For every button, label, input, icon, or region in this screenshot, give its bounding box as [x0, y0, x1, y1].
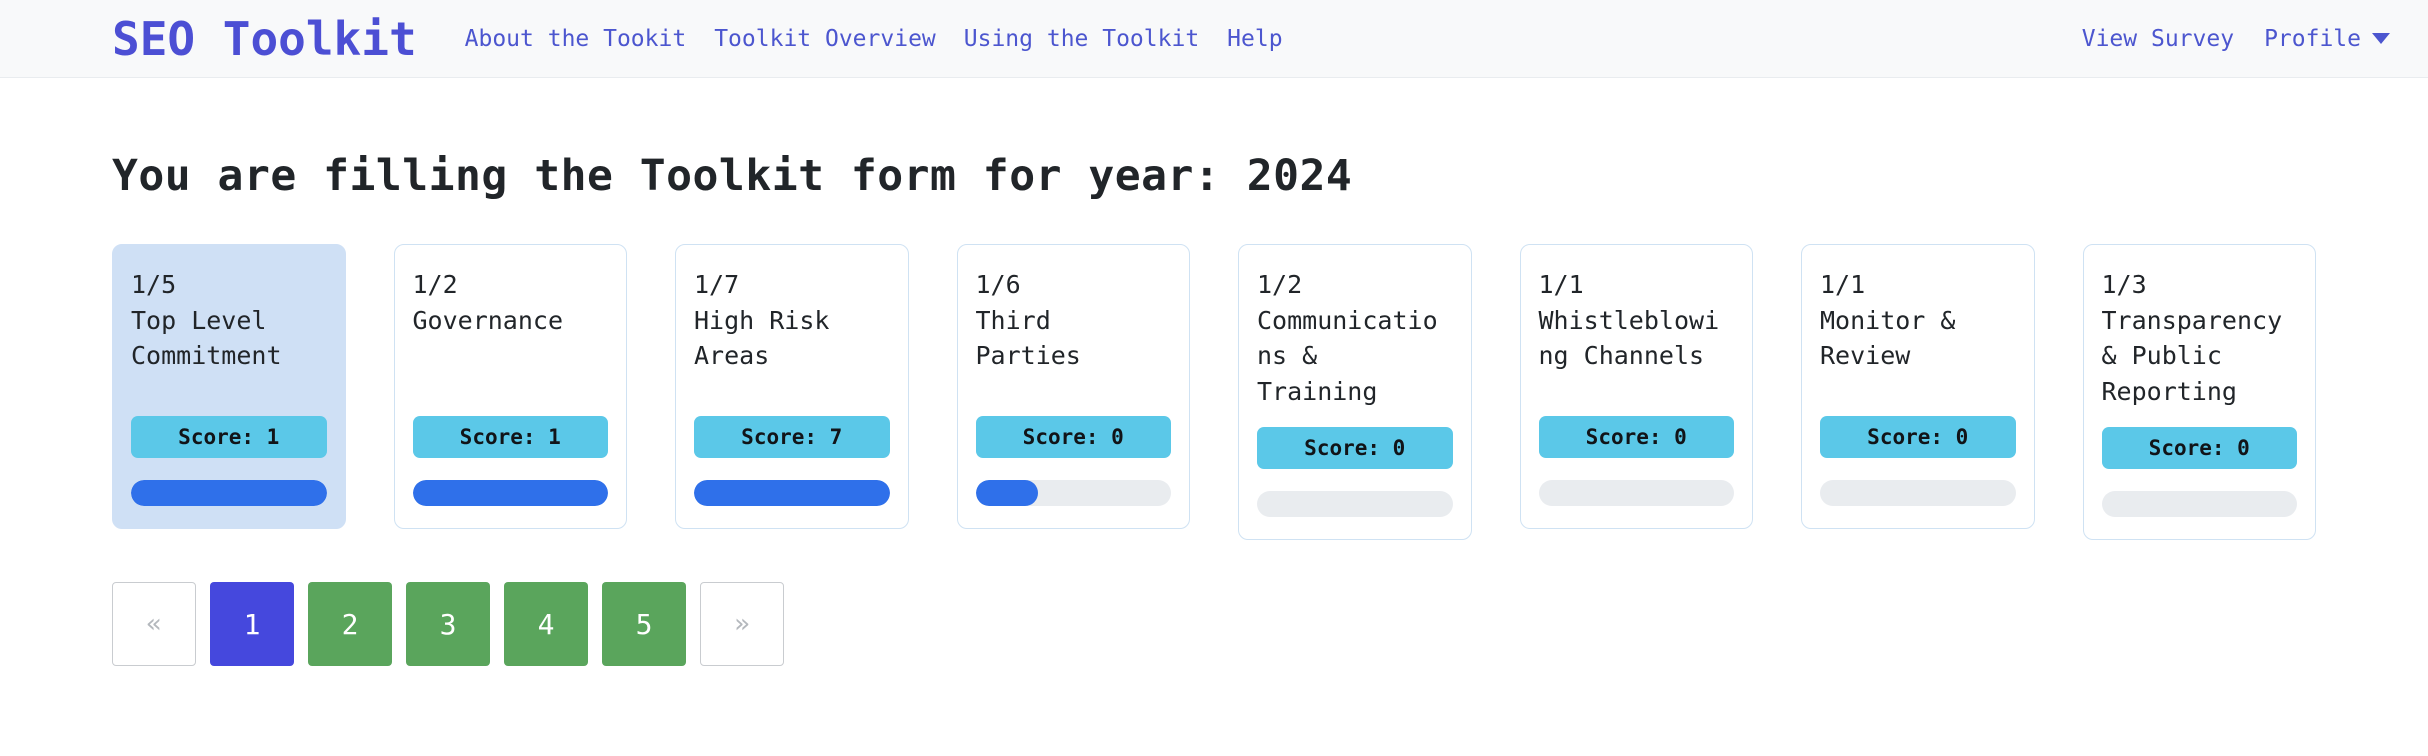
chevron-down-icon [2372, 33, 2390, 44]
card-spacer [131, 374, 327, 417]
score-badge[interactable]: Score: 1 [413, 416, 609, 458]
card-progress-count: 1/1 [1820, 267, 2016, 303]
card-title: Top Level Commitment [131, 303, 327, 374]
card-spacer [1539, 374, 1735, 417]
pagination-page-1[interactable]: 1 [210, 582, 294, 666]
progress-bar [976, 480, 1172, 506]
progress-bar-fill [694, 480, 890, 506]
card-spacer [1257, 409, 1453, 427]
progress-bar [131, 480, 327, 506]
nav-link-help[interactable]: Help [1227, 26, 1282, 52]
nav-link-using-the-toolkit[interactable]: Using the Toolkit [964, 26, 1199, 52]
card-title: Monitor & Review [1820, 303, 2016, 374]
progress-bar-fill [413, 480, 609, 506]
score-badge[interactable]: Score: 0 [1820, 416, 2016, 458]
pagination-page-5[interactable]: 5 [602, 582, 686, 666]
profile-label: Profile [2264, 26, 2361, 52]
profile-dropdown[interactable]: Profile [2264, 26, 2390, 52]
page-title: You are filling the Toolkit form for yea… [112, 151, 2316, 201]
score-badge[interactable]: Score: 7 [694, 416, 890, 458]
progress-bar [2102, 491, 2298, 517]
pagination-next-button[interactable]: » [700, 582, 784, 666]
progress-bar [1820, 480, 2016, 506]
card-title: Governance [413, 303, 609, 339]
pagination-prev-button[interactable]: « [112, 582, 196, 666]
section-card[interactable]: 1/6Third PartiesScore: 0 [957, 244, 1191, 529]
card-progress-count: 1/2 [413, 267, 609, 303]
progress-bar-fill [976, 480, 1039, 506]
card-title: Communications & Training [1257, 303, 1453, 410]
score-badge[interactable]: Score: 0 [1539, 416, 1735, 458]
progress-bar [1539, 480, 1735, 506]
card-progress-count: 1/6 [976, 267, 1172, 303]
card-title: Whistleblowing Channels [1539, 303, 1735, 374]
section-card[interactable]: 1/2GovernanceScore: 1 [394, 244, 628, 529]
pagination-page-2[interactable]: 2 [308, 582, 392, 666]
section-card[interactable]: 1/1Monitor & ReviewScore: 0 [1801, 244, 2035, 529]
nav-link-view-survey[interactable]: View Survey [2082, 26, 2234, 52]
card-title: High Risk Areas [694, 303, 890, 374]
nav-link-toolkit-overview[interactable]: Toolkit Overview [714, 26, 936, 52]
brand-logo[interactable]: SEO Toolkit [112, 16, 417, 62]
section-card[interactable]: 1/3Transparency & Public ReportingScore:… [2083, 244, 2317, 540]
card-progress-count: 1/1 [1539, 267, 1735, 303]
section-card-list: 1/5Top Level CommitmentScore: 11/2Govern… [112, 244, 2316, 540]
section-card[interactable]: 1/7High Risk AreasScore: 7 [675, 244, 909, 529]
score-badge[interactable]: Score: 1 [131, 416, 327, 458]
card-progress-count: 1/3 [2102, 267, 2298, 303]
top-navbar: SEO Toolkit About the Tookit Toolkit Ove… [0, 0, 2428, 78]
progress-bar-fill [131, 480, 327, 506]
primary-nav: About the Tookit Toolkit Overview Using … [465, 26, 2082, 52]
card-progress-count: 1/7 [694, 267, 890, 303]
secondary-nav: View Survey Profile [2082, 26, 2390, 52]
section-card[interactable]: 1/5Top Level CommitmentScore: 1 [112, 244, 346, 529]
section-card[interactable]: 1/1Whistleblowing ChannelsScore: 0 [1520, 244, 1754, 529]
score-badge[interactable]: Score: 0 [1257, 427, 1453, 469]
card-progress-count: 1/5 [131, 267, 327, 303]
card-spacer [1820, 374, 2016, 417]
card-spacer [694, 374, 890, 417]
card-spacer [413, 338, 609, 416]
pagination-page-3[interactable]: 3 [406, 582, 490, 666]
nav-link-about-the-toolkit[interactable]: About the Tookit [465, 26, 687, 52]
card-progress-count: 1/2 [1257, 267, 1453, 303]
progress-bar [1257, 491, 1453, 517]
progress-bar [694, 480, 890, 506]
card-spacer [2102, 409, 2298, 427]
progress-bar [413, 480, 609, 506]
score-badge[interactable]: Score: 0 [976, 416, 1172, 458]
card-spacer [976, 374, 1172, 417]
card-title: Transparency & Public Reporting [2102, 303, 2298, 410]
pagination: «12345» [112, 582, 2316, 706]
main-content: You are filling the Toolkit form for yea… [0, 151, 2428, 706]
pagination-page-4[interactable]: 4 [504, 582, 588, 666]
section-card[interactable]: 1/2Communications & TrainingScore: 0 [1238, 244, 1472, 540]
score-badge[interactable]: Score: 0 [2102, 427, 2298, 469]
card-title: Third Parties [976, 303, 1172, 374]
